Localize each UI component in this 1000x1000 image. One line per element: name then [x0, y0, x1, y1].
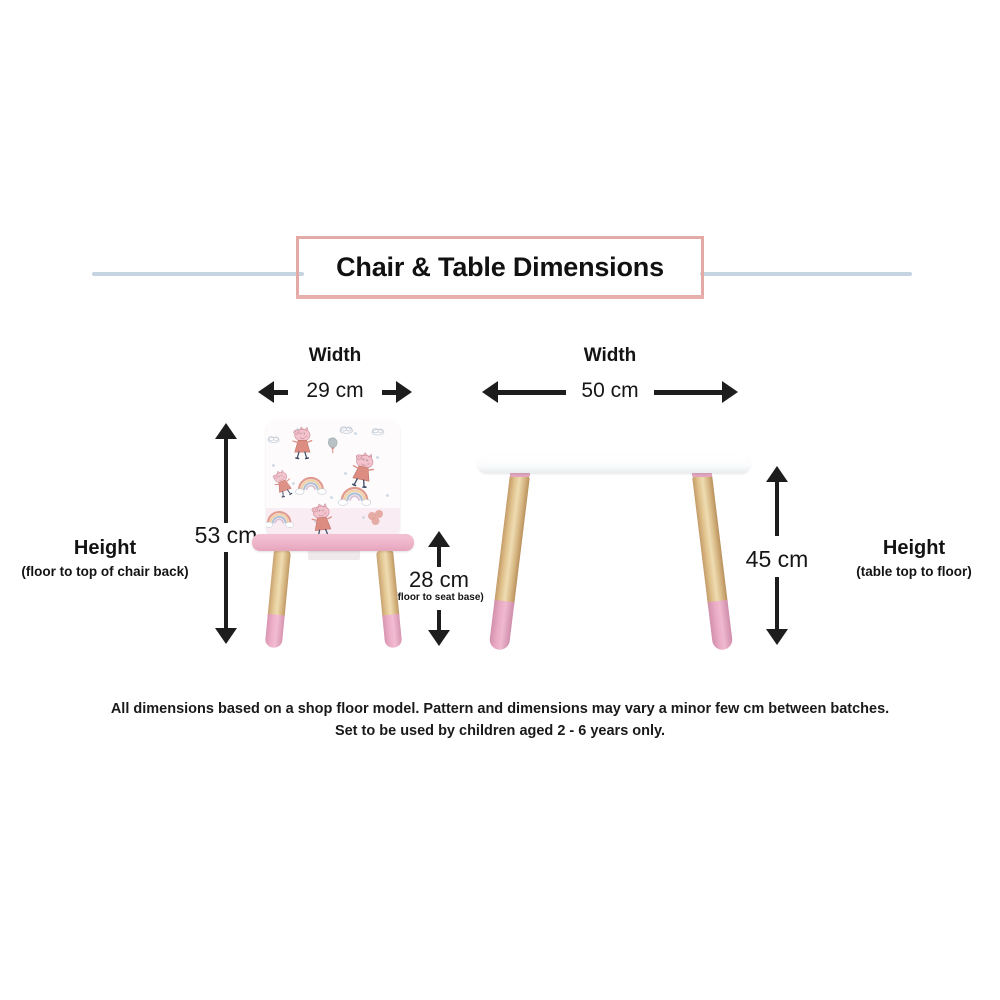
- chair-height-arrow-up: [215, 423, 237, 523]
- table-leg-right: [692, 474, 733, 651]
- peppa-pattern-icon: [266, 420, 400, 538]
- table-height-sublabel: (table top to floor): [828, 564, 1000, 579]
- table-top: [478, 456, 750, 473]
- arrow-head-right: [722, 381, 738, 403]
- footer-note: All dimensions based on a shop floor mod…: [0, 698, 1000, 743]
- arrow-head-right: [396, 381, 412, 403]
- table-width-arrow-left: [482, 381, 566, 403]
- table-width-value: 50 cm: [560, 379, 660, 403]
- table-leg-tip: [489, 600, 515, 651]
- table-leg-tip: [708, 600, 734, 651]
- chair-leg-tip: [382, 614, 402, 649]
- seat-height-arrow-down: [428, 610, 450, 646]
- chair-width-label: Width: [255, 345, 415, 367]
- arrow-shaft: [496, 390, 566, 395]
- dimension-infographic: Chair & Table Dimensions Width 29 cm Wid…: [0, 0, 1000, 1000]
- seat-height-arrow-up: [428, 531, 450, 567]
- chair-width-arrow: [258, 381, 288, 403]
- chair-height-arrow-down: [215, 552, 237, 644]
- chair-leg-left: [265, 549, 291, 648]
- table-height-label: Height: [830, 537, 998, 560]
- chair-leg-right: [376, 549, 402, 648]
- chair-width-value: 29 cm: [285, 379, 385, 403]
- table-height-arrow-up: [766, 466, 788, 536]
- chair-height-sublabel: (floor to top of chair back): [2, 564, 208, 579]
- arrow-head-down: [428, 630, 450, 646]
- chair-width-arrow-right: [382, 381, 412, 403]
- chair-leg-wood: [268, 549, 291, 617]
- arrow-shaft: [654, 390, 724, 395]
- chair-backrest: [266, 420, 400, 538]
- title-rule-left: [92, 272, 304, 276]
- chair-leg-tip: [265, 614, 285, 649]
- title-block: Chair & Table Dimensions: [0, 236, 1000, 312]
- arrow-shaft: [224, 437, 228, 523]
- chair-leg-wood: [376, 549, 399, 617]
- chair-illustration: [252, 420, 422, 650]
- table-width-arrow-right: [654, 381, 738, 403]
- footer-line-2: Set to be used by children aged 2 - 6 ye…: [0, 720, 1000, 742]
- arrow-shaft: [437, 545, 441, 567]
- table-leg-left: [489, 474, 530, 651]
- chair-seat: [252, 534, 414, 551]
- arrow-head-down: [215, 628, 237, 644]
- footer-line-1: All dimensions based on a shop floor mod…: [0, 698, 1000, 720]
- arrow-shaft: [775, 577, 779, 631]
- chair-height-label: Height: [5, 537, 205, 560]
- arrow-head-down: [766, 629, 788, 645]
- arrow-shaft: [437, 610, 441, 632]
- arrow-shaft: [775, 480, 779, 536]
- table-width-label: Width: [530, 345, 690, 367]
- table-illustration: [478, 456, 750, 652]
- table-leg-wood: [692, 474, 728, 606]
- page-title: Chair & Table Dimensions: [296, 236, 704, 298]
- title-rule-right: [700, 272, 912, 276]
- table-height-arrow-down: [766, 577, 788, 645]
- arrow-shaft: [224, 552, 228, 630]
- table-leg-wood: [494, 474, 530, 606]
